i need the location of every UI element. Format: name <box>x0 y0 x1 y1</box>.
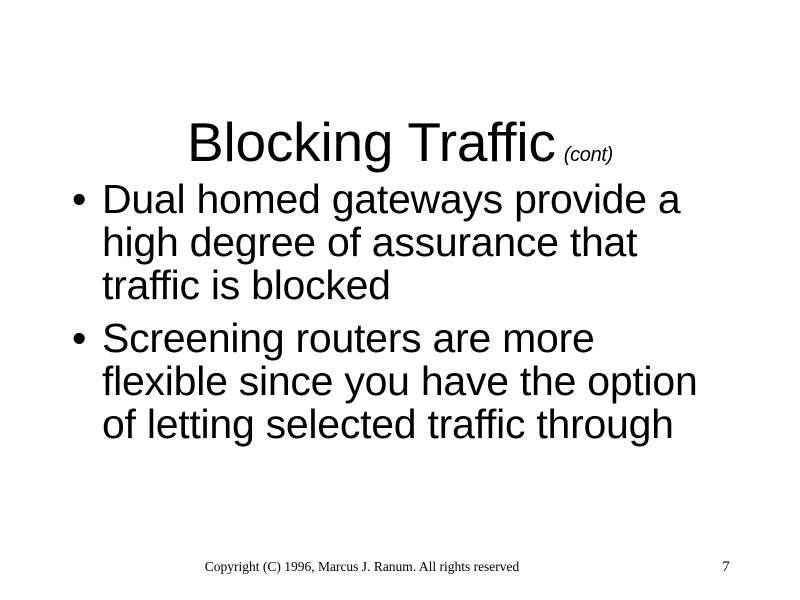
copyright-notice: Copyright (C) 1996, Marcus J. Ranum. All… <box>0 558 762 576</box>
page-number: 7 <box>706 558 746 576</box>
list-item-text: Screening routers are more flexible sinc… <box>102 317 710 446</box>
list-item: • Dual homed gateways provide a high deg… <box>60 178 710 307</box>
page-title: Blocking Traffic(cont) <box>0 113 800 184</box>
bullet-dot-icon: • <box>72 178 86 221</box>
list-item: • Screening routers are more flexible si… <box>60 317 710 446</box>
page-title-main: Blocking Traffic <box>187 111 556 173</box>
slide-footer: Copyright (C) 1996, Marcus J. Ranum. All… <box>0 558 800 580</box>
bullet-list: • Dual homed gateways provide a high deg… <box>60 178 710 456</box>
list-item-text: Dual homed gateways provide a high degre… <box>102 178 710 307</box>
slide-canvas: Blocking Traffic(cont) • Dual homed gate… <box>0 0 800 600</box>
page-title-continuation: (cont) <box>564 144 613 166</box>
bullet-dot-icon: • <box>72 317 86 360</box>
